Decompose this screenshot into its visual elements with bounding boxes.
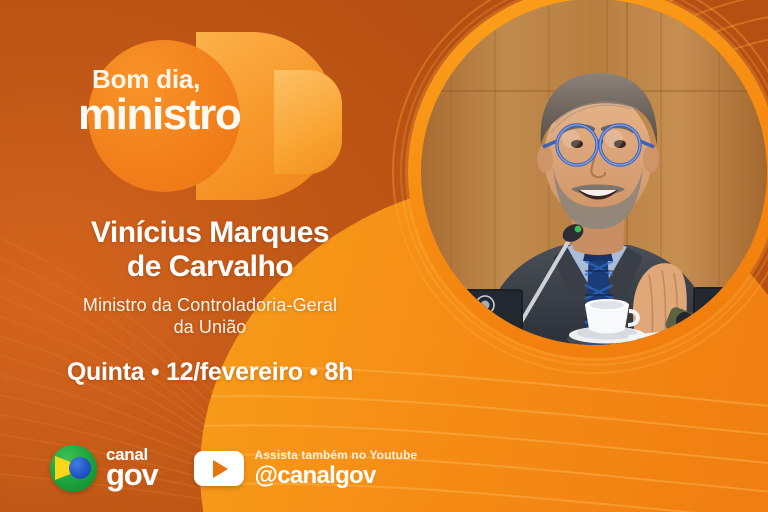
guest-role-line-2: da União [0, 317, 420, 339]
guest-info-block: Vinícius Marques de Carvalho Ministro da… [0, 216, 420, 387]
guest-role-line-1: Ministro da Controladoria-Geral [0, 295, 420, 317]
guest-name-line-1: Vinícius Marques [0, 216, 420, 250]
program-logo-text: Bom dia, ministro [78, 66, 308, 138]
youtube-play-icon[interactable] [194, 451, 244, 486]
flag-globe-shape [69, 457, 91, 479]
youtube-cta[interactable]: Assista também no Youtube @canalgov [194, 449, 418, 488]
logo-line-2: ministro [78, 93, 308, 138]
play-triangle-shape [213, 460, 228, 478]
footer-bar: canal gov Assista também no Youtube @can… [0, 445, 460, 492]
program-logo: Bom dia, ministro [78, 28, 378, 198]
canalgov-wordmark: canal gov [106, 447, 158, 489]
canalgov-logo[interactable]: canal gov [50, 445, 158, 492]
photo-disc: LHO CGU FÁBIO [421, 0, 767, 345]
guest-photo: LHO CGU FÁBIO [408, 0, 768, 358]
guest-name-line-2: de Carvalho [0, 250, 420, 284]
airdate: Quinta • 12/fevereiro • 8h [0, 358, 420, 387]
guest-name: Vinícius Marques de Carvalho [0, 216, 420, 284]
canalgov-gov-text: gov [106, 461, 158, 490]
youtube-handle: @canalgov [255, 463, 418, 488]
promo-poster: Bom dia, ministro [0, 0, 768, 512]
guest-role: Ministro da Controladoria-Geral da União [0, 295, 420, 339]
brazil-flag-icon [50, 445, 97, 492]
youtube-text-block: Assista também no Youtube @canalgov [255, 449, 418, 488]
logo-line-1: Bom dia, [92, 66, 308, 92]
youtube-prompt: Assista também no Youtube [255, 449, 418, 462]
